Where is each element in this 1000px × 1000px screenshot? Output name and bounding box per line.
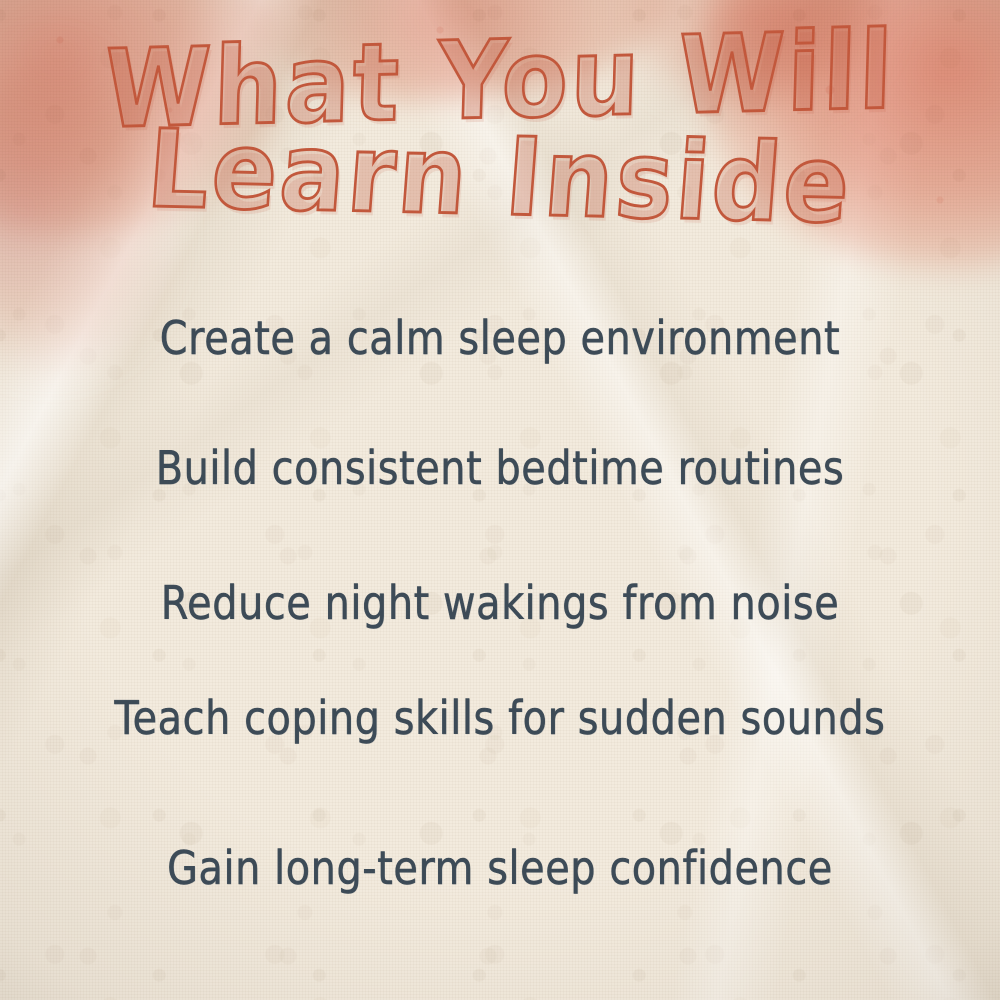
title-line-2: Learn Inside: [0, 114, 1000, 241]
list-item: Create a calm sleep environment: [73, 313, 927, 365]
list-item: Teach coping skills for sudden sounds: [73, 693, 927, 745]
list-item: Build consistent bedtime routines: [73, 443, 927, 495]
list-item: Gain long-term sleep confidence: [73, 843, 927, 895]
page-title: What You Will Learn Inside: [0, 34, 1000, 224]
poster-content: What You Will Learn Inside Create a calm…: [0, 0, 1000, 1000]
poster-canvas: What You Will Learn Inside Create a calm…: [0, 0, 1000, 1000]
list-item: Reduce night wakings from noise: [73, 578, 927, 630]
